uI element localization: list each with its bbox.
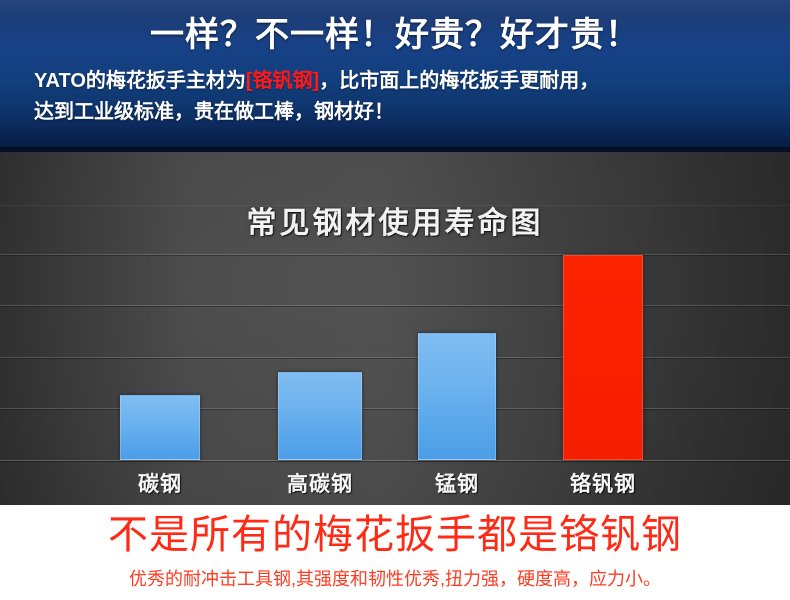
footer-subtext: 优秀的耐冲击工具钢,其强度和韧性优秀,扭力强，硬度高，应力小。	[0, 565, 790, 591]
chart-baseline	[0, 460, 790, 461]
bar-chrome-vanadium-steel	[563, 255, 643, 460]
footer-headline: 不是所有的梅花扳手都是铬钒钢	[0, 510, 790, 560]
footer-section: 不是所有的梅花扳手都是铬钒钢 优秀的耐冲击工具钢,其强度和韧性优秀,扭力强，硬度…	[0, 505, 790, 600]
hero-line1-before: YATO的梅花扳手主材为	[34, 70, 246, 92]
hero-body-line-2: 达到工业级标准，贵在做工棒，钢材好！	[34, 97, 758, 128]
promo-banner: 一样？不一样！好贵？好才贵！ YATO的梅花扳手主材为[铬钒钢]，比市面上的梅花…	[0, 0, 790, 600]
category-label-carbon-steel: 碳钢	[100, 468, 220, 498]
hero-body-text: YATO的梅花扳手主材为[铬钒钢]，比市面上的梅花扳手更耐用， 达到工业级标准，…	[34, 66, 758, 128]
hero-line1-after: ，比市面上的梅花扳手更耐用，	[319, 70, 599, 92]
chart-panel: 常见钢材使用寿命图 碳钢 高碳钢 锰钢 铬钒钢	[0, 152, 790, 505]
bar-manganese-steel	[418, 333, 496, 460]
hero-body-line-1: YATO的梅花扳手主材为[铬钒钢]，比市面上的梅花扳手更耐用，	[34, 66, 758, 97]
bar-carbon-steel	[120, 395, 200, 460]
hero-line1-highlight: [铬钒钢]	[246, 70, 319, 92]
category-label-manganese-steel: 锰钢	[397, 468, 517, 498]
category-label-chrome-vanadium-steel: 铬钒钢	[543, 468, 663, 498]
chart-plot-area: 碳钢 高碳钢 锰钢 铬钒钢	[0, 152, 790, 505]
bar-high-carbon-steel	[278, 372, 362, 460]
hero-section: 一样？不一样！好贵？好才贵！ YATO的梅花扳手主材为[铬钒钢]，比市面上的梅花…	[0, 0, 790, 152]
hero-title: 一样？不一样！好贵？好才贵！	[0, 14, 790, 56]
category-label-high-carbon-steel: 高碳钢	[260, 468, 380, 498]
